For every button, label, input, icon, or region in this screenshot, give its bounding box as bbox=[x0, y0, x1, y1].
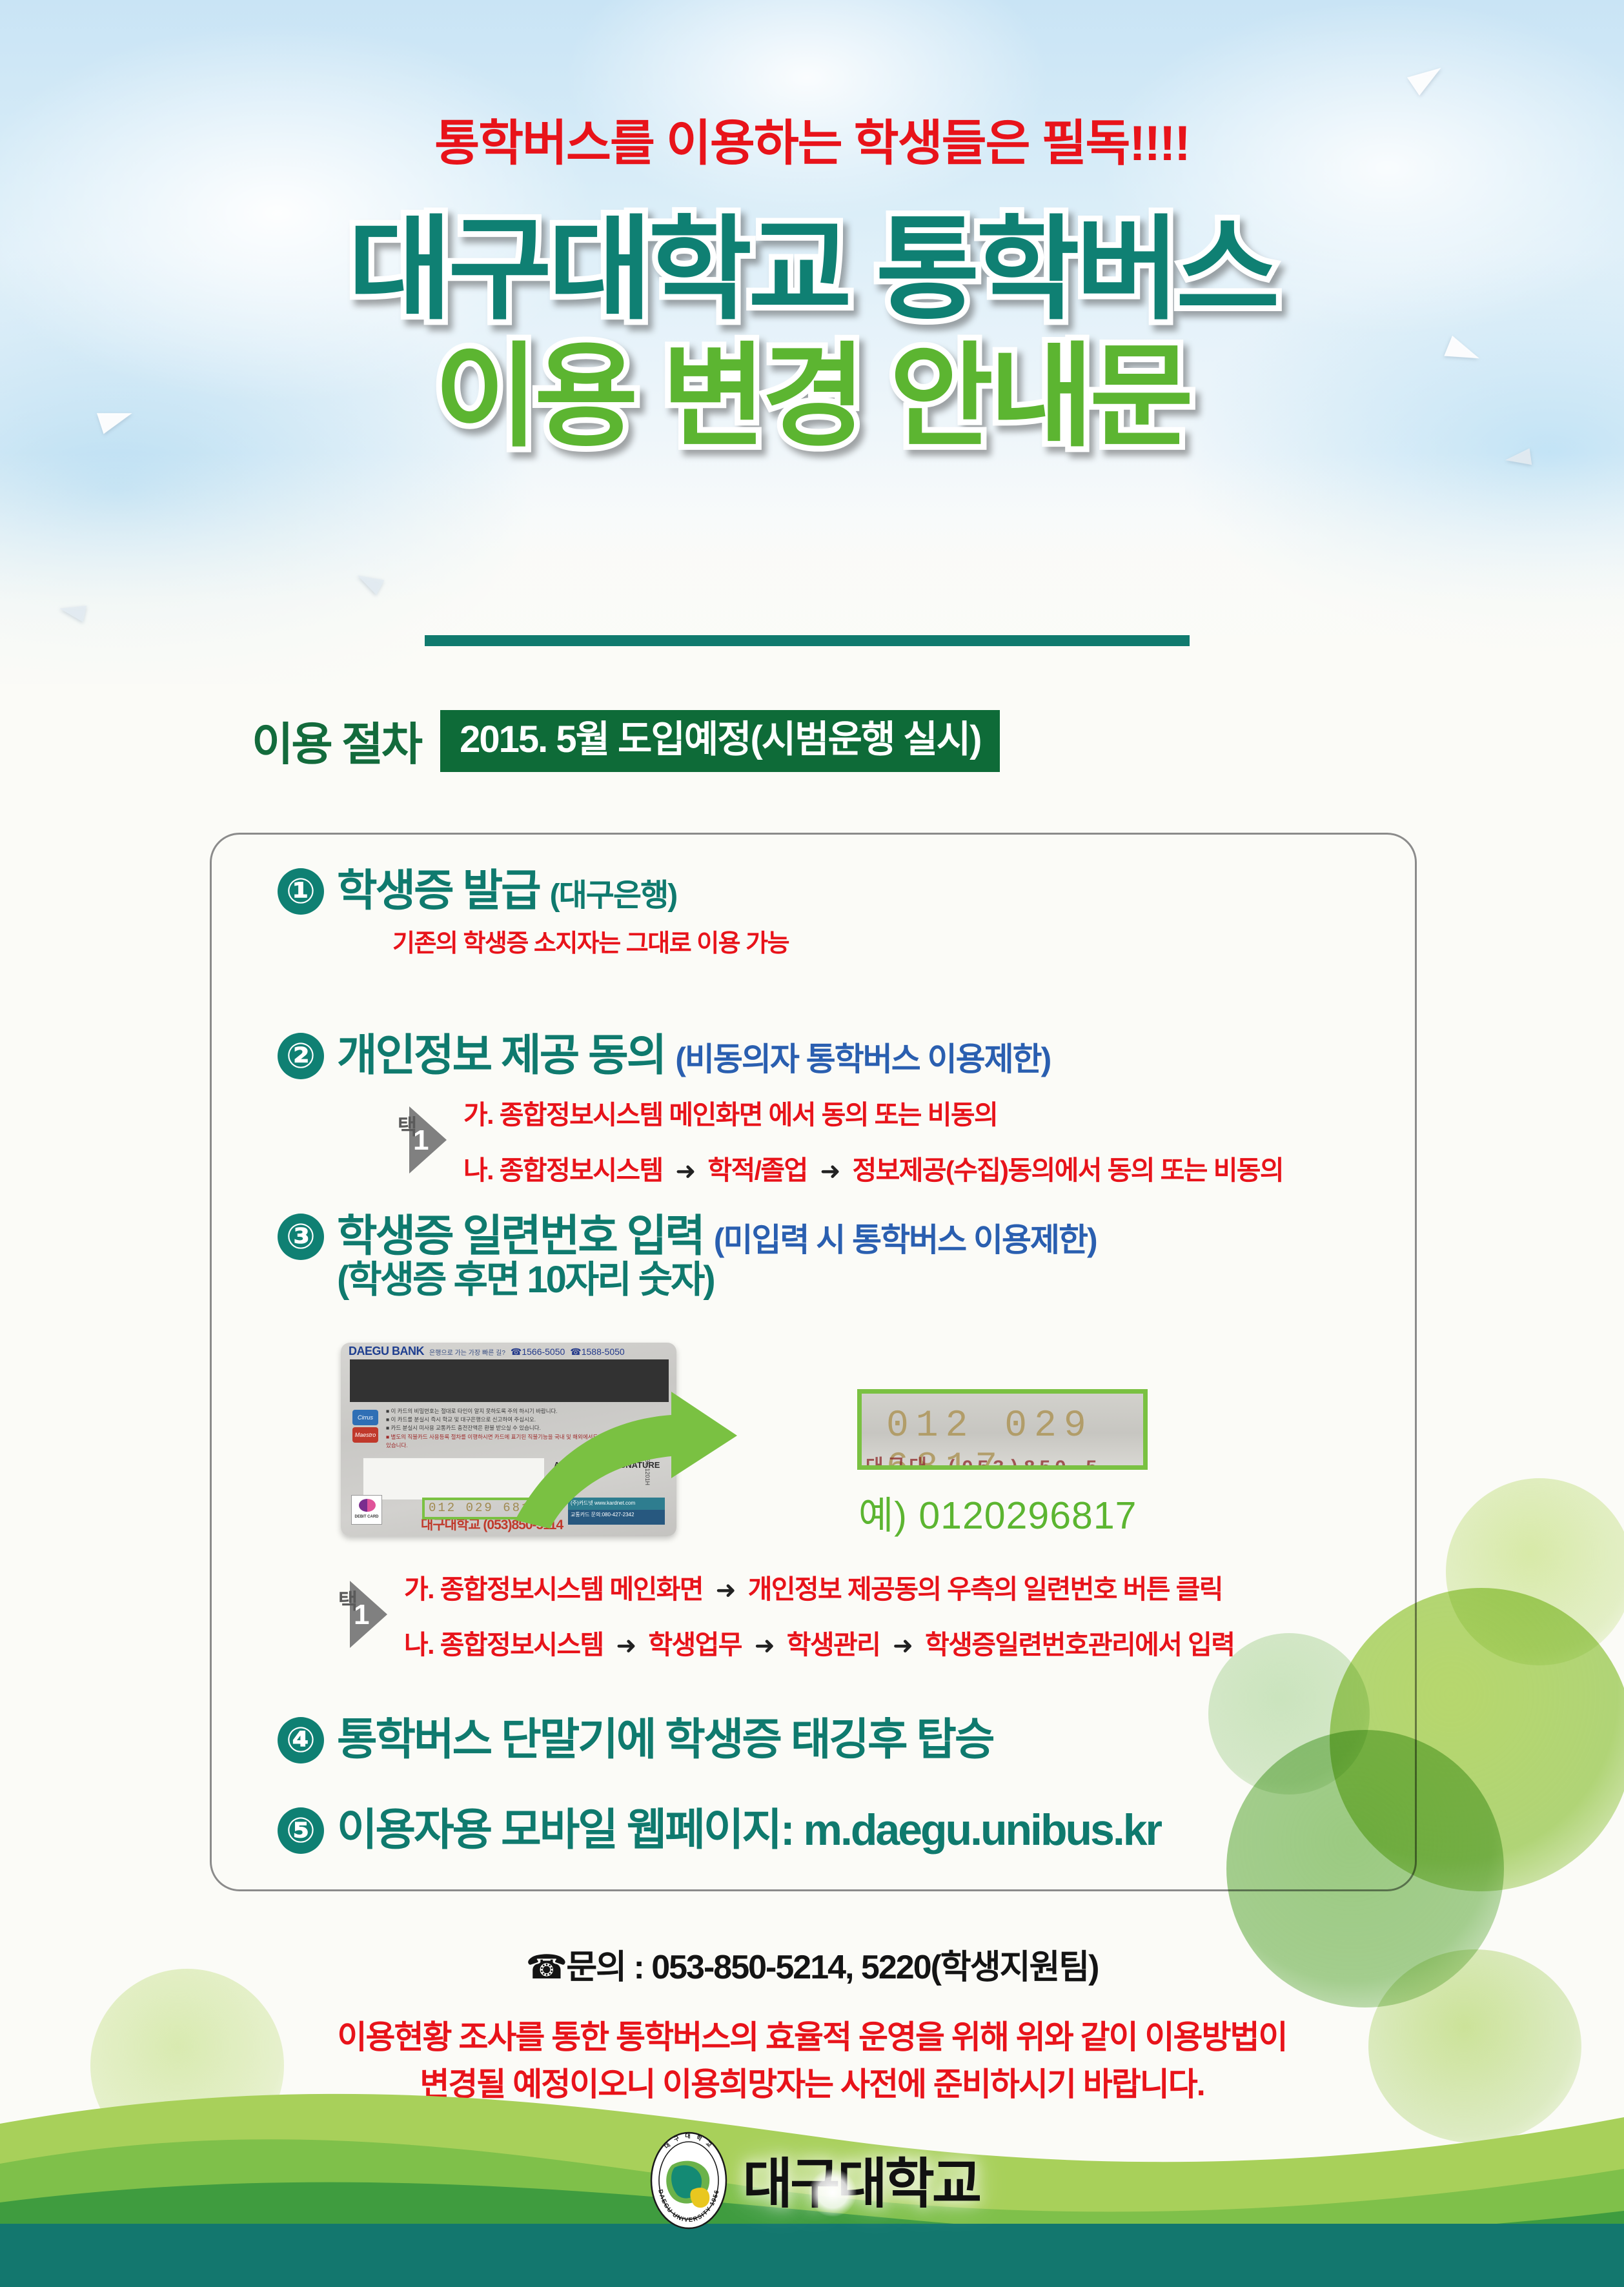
choose-one-marker-step2: 택 1 bbox=[390, 1106, 447, 1174]
bank-name: DAEGU BANK bbox=[349, 1345, 424, 1358]
step-4-title: 통학버스 단말기에 학생증 태깅후 탑승 bbox=[337, 1717, 993, 1763]
title-line-1: 대구대학교 통학버스 bbox=[0, 213, 1624, 329]
step-3-subline: (학생증 후면 10자리 숫자) bbox=[337, 1261, 1097, 1300]
step-2: ② 개인정보 제공 동의 (비동의자 통학버스 이용제한) 택 1 가. 종합정… bbox=[278, 1033, 1283, 1187]
maestro-logo-icon: Maestro bbox=[352, 1427, 378, 1443]
sky-fade-overlay bbox=[0, 452, 1624, 723]
step-number-2: ② bbox=[278, 1033, 324, 1079]
poster-title: 대구대학교 통학버스 이용 변경 안내문 bbox=[0, 213, 1624, 455]
pick-count-step3: 1 bbox=[354, 1599, 369, 1631]
step-2-choice-ga: 가. 종합정보시스템 메인화면 에서 동의 또는 비동의 bbox=[463, 1093, 1283, 1132]
cirrus-logo-icon: Cirrus bbox=[352, 1410, 378, 1425]
choice-part: 학생관리 bbox=[787, 1630, 880, 1660]
university-name: 대구대학교 bbox=[743, 2140, 979, 2219]
choice-prefix: 가. bbox=[463, 1100, 493, 1130]
choice-part: 종합정보시스템 bbox=[500, 1155, 663, 1185]
contact-line: ☎문의 : 053-850-5214, 5220(학생지원팀) bbox=[0, 1940, 1624, 1988]
step-2-choice-na: 나. 종합정보시스템 ➜ 학적/졸업 ➜ 정보제공(수집)동의에서 동의 또는 … bbox=[463, 1148, 1283, 1187]
step-number-1: ① bbox=[278, 868, 324, 915]
choice-part: 정보제공(수집)동의에서 동의 또는 비동의 bbox=[853, 1155, 1284, 1185]
step-3-choice-ga: 가. 종합정보시스템 메인화면 ➜ 개인정보 제공동의 우측의 일련번호 버튼 … bbox=[404, 1567, 1234, 1606]
pick-count-step2: 1 bbox=[413, 1124, 429, 1157]
arrow-right-icon: ➜ bbox=[886, 1632, 919, 1660]
section-badge: 2015. 5월 도입예정(시범운행 실시) bbox=[440, 710, 1000, 772]
choice-part: 종합정보시스템 메인화면 에서 동의 또는 비동의 bbox=[500, 1100, 997, 1130]
step-4: ④ 통학버스 단말기에 학생증 태깅후 탑승 bbox=[278, 1717, 993, 1764]
step-1-heading: 학생증 발급 (대구은행) bbox=[337, 868, 789, 914]
arrow-right-icon: ➜ bbox=[709, 1577, 742, 1604]
choose-one-marker-step3: 택 1 bbox=[330, 1581, 387, 1648]
kicker-text: 통학버스를 이용하는 학생들은 필독!!!! bbox=[0, 103, 1624, 174]
choice-part: 학생증일련번호관리에서 입력 bbox=[925, 1630, 1234, 1660]
logo-glow bbox=[809, 2169, 857, 2217]
choice-part: 종합정보시스템 메인화면 bbox=[440, 1574, 703, 1604]
step-1-paren: (대구은행) bbox=[550, 879, 677, 913]
step-number-3: ③ bbox=[278, 1214, 324, 1260]
card-header: DAEGU BANK 은행으로 가는 가장 빠른 길? ☎1566-5050 ☎… bbox=[341, 1345, 676, 1358]
choice-prefix: 나. bbox=[404, 1630, 434, 1660]
choice-part: 종합정보시스템 bbox=[440, 1630, 604, 1660]
debit-card-badge: DEBIT CARD bbox=[351, 1495, 382, 1525]
section-header: 이용 절차 2015. 5월 도입예정(시범운행 실시) bbox=[252, 708, 1000, 773]
bank-phone-2: ☎1588-5050 bbox=[570, 1347, 624, 1357]
choice-part: 학적/졸업 bbox=[707, 1155, 807, 1185]
bank-tagline: 은행으로 가는 가장 빠른 길? bbox=[429, 1347, 505, 1357]
zoom-under-text: 대구대 (053)850-5 bbox=[866, 1450, 1101, 1470]
arrow-right-icon: ➜ bbox=[609, 1632, 642, 1660]
footer-bar bbox=[0, 2224, 1624, 2287]
choice-prefix: 가. bbox=[404, 1574, 434, 1604]
step-3-choices: 택 1 가. 종합정보시스템 메인화면 ➜ 개인정보 제공동의 우측의 일련번호… bbox=[330, 1567, 1234, 1662]
step-5: ⑤ 이용자용 모바일 웹페이지: m.daegu.unibus.kr bbox=[278, 1807, 1161, 1854]
step-5-title: 이용자용 모바일 웹페이지: m.daegu.unibus.kr bbox=[337, 1807, 1161, 1853]
title-line-2: 이용 변경 안내문 bbox=[0, 340, 1624, 456]
step-3-paren: (미입력 시 통학버스 이용제한) bbox=[714, 1222, 1097, 1258]
arrow-right-icon: ➜ bbox=[748, 1632, 780, 1660]
step-1-title: 학생증 발급 bbox=[337, 866, 540, 915]
choice-part: 학생업무 bbox=[648, 1630, 741, 1660]
arrow-right-icon: ➜ bbox=[813, 1158, 846, 1185]
step-2-title: 개인정보 제공 동의 bbox=[337, 1031, 665, 1080]
poster-root: 통학버스를 이용하는 학생들은 필독!!!! 대구대학교 통학버스 이용 변경 … bbox=[0, 0, 1624, 2287]
step-number-5: ⑤ bbox=[278, 1807, 324, 1854]
arrow-right-icon: ➜ bbox=[669, 1158, 701, 1185]
step-3: ③ 학생증 일련번호 입력 (미입력 시 통학버스 이용제한) (학생증 후면 … bbox=[278, 1214, 1097, 1300]
card-network-logos: Cirrus Maestro bbox=[352, 1410, 381, 1445]
step-3-title: 학생증 일련번호 입력 bbox=[337, 1212, 704, 1261]
green-curved-arrow-icon bbox=[510, 1368, 787, 1530]
serial-zoom-callout: 012 029 6817 대구대 (053)850-5 bbox=[857, 1389, 1148, 1470]
serial-example-text: 예) 0120296817 bbox=[858, 1485, 1137, 1540]
bank-phone-1: ☎1566-5050 bbox=[511, 1347, 565, 1357]
step-2-paren: (비동의자 통학버스 이용제한) bbox=[675, 1041, 1050, 1077]
choice-prefix: 나. bbox=[463, 1155, 493, 1185]
daegu-university-logo-icon: 대 구 대 학 교 DAEGU UNIVERSITY 1956 bbox=[645, 2128, 733, 2231]
step-number-4: ④ bbox=[278, 1717, 324, 1764]
step-3-heading: 학생증 일련번호 입력 (미입력 시 통학버스 이용제한) (학생증 후면 10… bbox=[337, 1214, 1097, 1300]
section-title: 이용 절차 bbox=[252, 708, 421, 773]
title-divider bbox=[425, 635, 1190, 646]
step-1-note: 기존의 학생증 소지자는 그대로 이용 가능 bbox=[392, 923, 789, 959]
step-1: ① 학생증 발급 (대구은행) 기존의 학생증 소지자는 그대로 이용 가능 bbox=[278, 868, 789, 959]
step-3-choice-na: 나. 종합정보시스템 ➜ 학생업무 ➜ 학생관리 ➜ 학생증일련번호관리에서 입… bbox=[404, 1623, 1234, 1662]
choice-part: 개인정보 제공동의 우측의 일련번호 버튼 클릭 bbox=[748, 1574, 1223, 1604]
step-2-heading: 개인정보 제공 동의 (비동의자 통학버스 이용제한) bbox=[337, 1033, 1283, 1079]
